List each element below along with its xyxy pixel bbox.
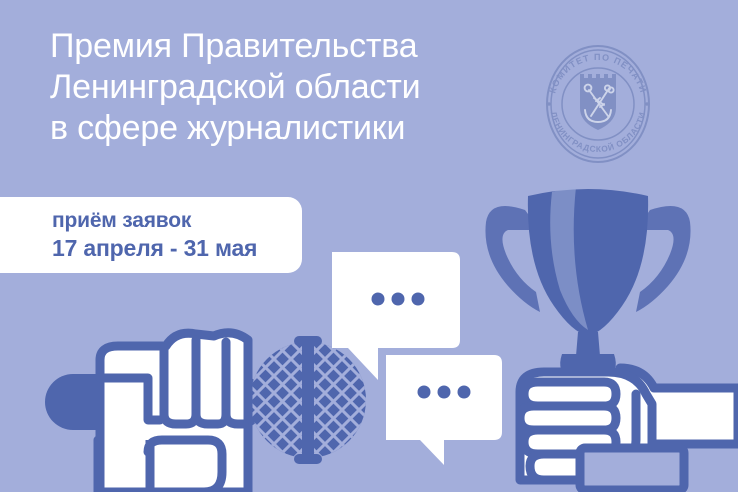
- date-badge-range: 17 апреля - 31 мая: [52, 234, 302, 262]
- page-title: Премия Правительства Ленинградской облас…: [50, 26, 520, 149]
- seal-shield-emblem: [580, 74, 616, 130]
- trophy-stem: [576, 332, 600, 356]
- date-badge-label: приём заявок: [52, 208, 302, 234]
- watch-cuff: [580, 448, 684, 490]
- date-badge: приём заявок 17 апреля - 31 мая: [0, 197, 302, 273]
- title-line-3: в сфере журналистики: [50, 108, 520, 149]
- title-line-1: Премия Правительства: [50, 26, 520, 67]
- poster-root: КОМИТЕТ ПО ПЕЧАТИ ЛЕНИНГРАДСКОЙ ОБЛАСТИ: [0, 0, 738, 492]
- seal-dot-right: [645, 102, 649, 106]
- title-line-2: Ленинградской области: [50, 67, 520, 108]
- right-fist: [520, 368, 738, 490]
- trophy-bowl: [528, 189, 648, 336]
- seal-dot-left: [547, 102, 551, 106]
- komitet-po-pechati-seal: КОМИТЕТ ПО ПЕЧАТИ ЛЕНИНГРАДСКОЙ ОБЛАСТИ: [536, 42, 660, 166]
